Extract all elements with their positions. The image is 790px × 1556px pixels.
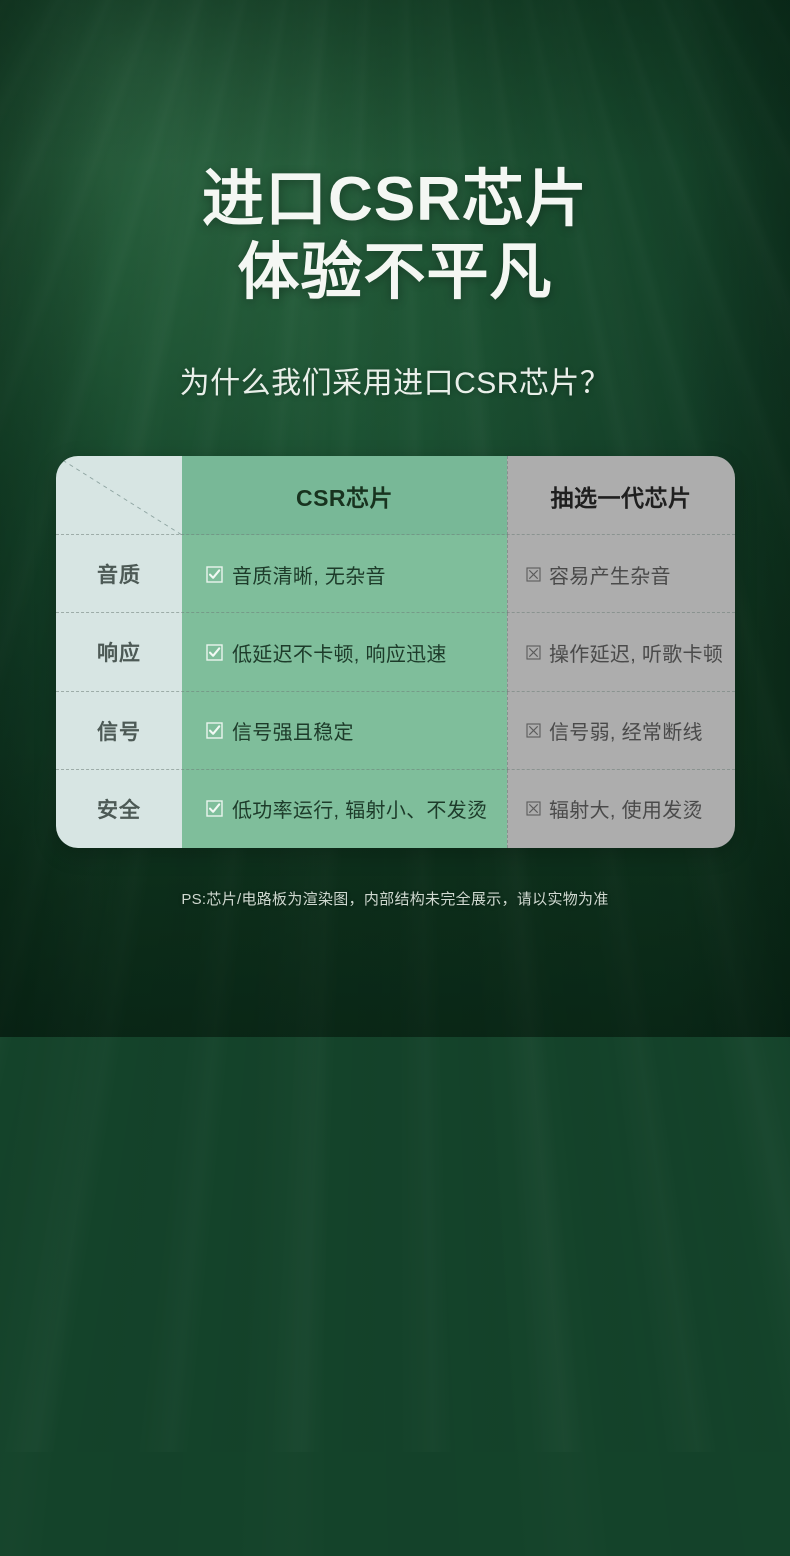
page-title: 进口CSR芯片 体验不平凡 xyxy=(0,163,790,309)
row-label-cell: 信号 xyxy=(56,692,182,770)
diagonal-divider-icon xyxy=(56,456,182,535)
check-box-icon xyxy=(206,644,223,661)
check-box-icon xyxy=(206,566,223,583)
check-box-icon xyxy=(206,800,223,817)
table-row: 音质 音质清晰, 无杂音 xyxy=(56,535,735,613)
column-header-label-good: CSR芯片 xyxy=(296,479,393,513)
table-row: 响应 低延迟不卡顿, 响应迅速 xyxy=(56,613,735,691)
column-header-label-bad: 抽选一代芯片 xyxy=(551,479,692,513)
table-row: 安全 低功率运行, 辐射小、不发烫 xyxy=(56,770,735,848)
table-header-row: CSR芯片 抽选一代芯片 xyxy=(56,456,735,535)
row-good-cell: 音质清晰, 无杂音 xyxy=(182,535,507,613)
cell-text-bad: 操作延迟, 听歌卡顿 xyxy=(549,638,723,667)
row-good-cell: 低延迟不卡顿, 响应迅速 xyxy=(182,613,507,691)
cell-text-good: 低延迟不卡顿, 响应迅速 xyxy=(232,638,447,667)
comparison-table: CSR芯片 抽选一代芯片 音质 音质清晰, 无杂音 xyxy=(56,456,735,848)
row-label: 音质 xyxy=(97,559,141,589)
check-box-icon xyxy=(206,722,223,739)
page-subtitle: 为什么我们采用进口CSR芯片？ xyxy=(0,358,790,402)
cell-text-bad: 辐射大, 使用发烫 xyxy=(549,794,703,823)
table-corner-cell xyxy=(56,456,182,535)
row-good-cell: 信号强且稳定 xyxy=(182,692,507,770)
promo-page: 进口CSR芯片 体验不平凡 为什么我们采用进口CSR芯片？ CSR芯片 抽选一代… xyxy=(0,0,790,1037)
headline-line-1: 进口CSR芯片 xyxy=(202,165,588,234)
row-label-cell: 安全 xyxy=(56,770,182,848)
row-bad-cell: 信号弱, 经常断线 xyxy=(507,692,735,770)
cross-box-icon xyxy=(526,723,541,738)
row-label: 信号 xyxy=(97,716,141,746)
row-bad-cell: 辐射大, 使用发烫 xyxy=(507,770,735,848)
cell-text-good: 音质清晰, 无杂音 xyxy=(232,560,386,589)
cell-text-good: 低功率运行, 辐射小、不发烫 xyxy=(232,794,487,823)
cell-text-good: 信号强且稳定 xyxy=(232,716,354,745)
row-good-cell: 低功率运行, 辐射小、不发烫 xyxy=(182,770,507,848)
table-header-good: CSR芯片 xyxy=(182,456,507,535)
row-label-cell: 响应 xyxy=(56,613,182,691)
cross-box-icon xyxy=(526,801,541,816)
footnote-text: PS:芯片/电路板为渲染图，内部结构未完全展示，请以实物为准 xyxy=(0,888,790,909)
table-header-bad: 抽选一代芯片 xyxy=(507,456,735,535)
row-label: 安全 xyxy=(97,794,141,824)
row-bad-cell: 容易产生杂音 xyxy=(507,535,735,613)
row-label-cell: 音质 xyxy=(56,535,182,613)
row-bad-cell: 操作延迟, 听歌卡顿 xyxy=(507,613,735,691)
headline-line-2: 体验不平凡 xyxy=(0,236,790,309)
cross-box-icon xyxy=(526,645,541,660)
cross-box-icon xyxy=(526,567,541,582)
table-row: 信号 信号强且稳定 xyxy=(56,692,735,770)
row-label: 响应 xyxy=(97,637,141,667)
cell-text-bad: 信号弱, 经常断线 xyxy=(549,716,703,745)
cell-text-bad: 容易产生杂音 xyxy=(549,560,671,589)
